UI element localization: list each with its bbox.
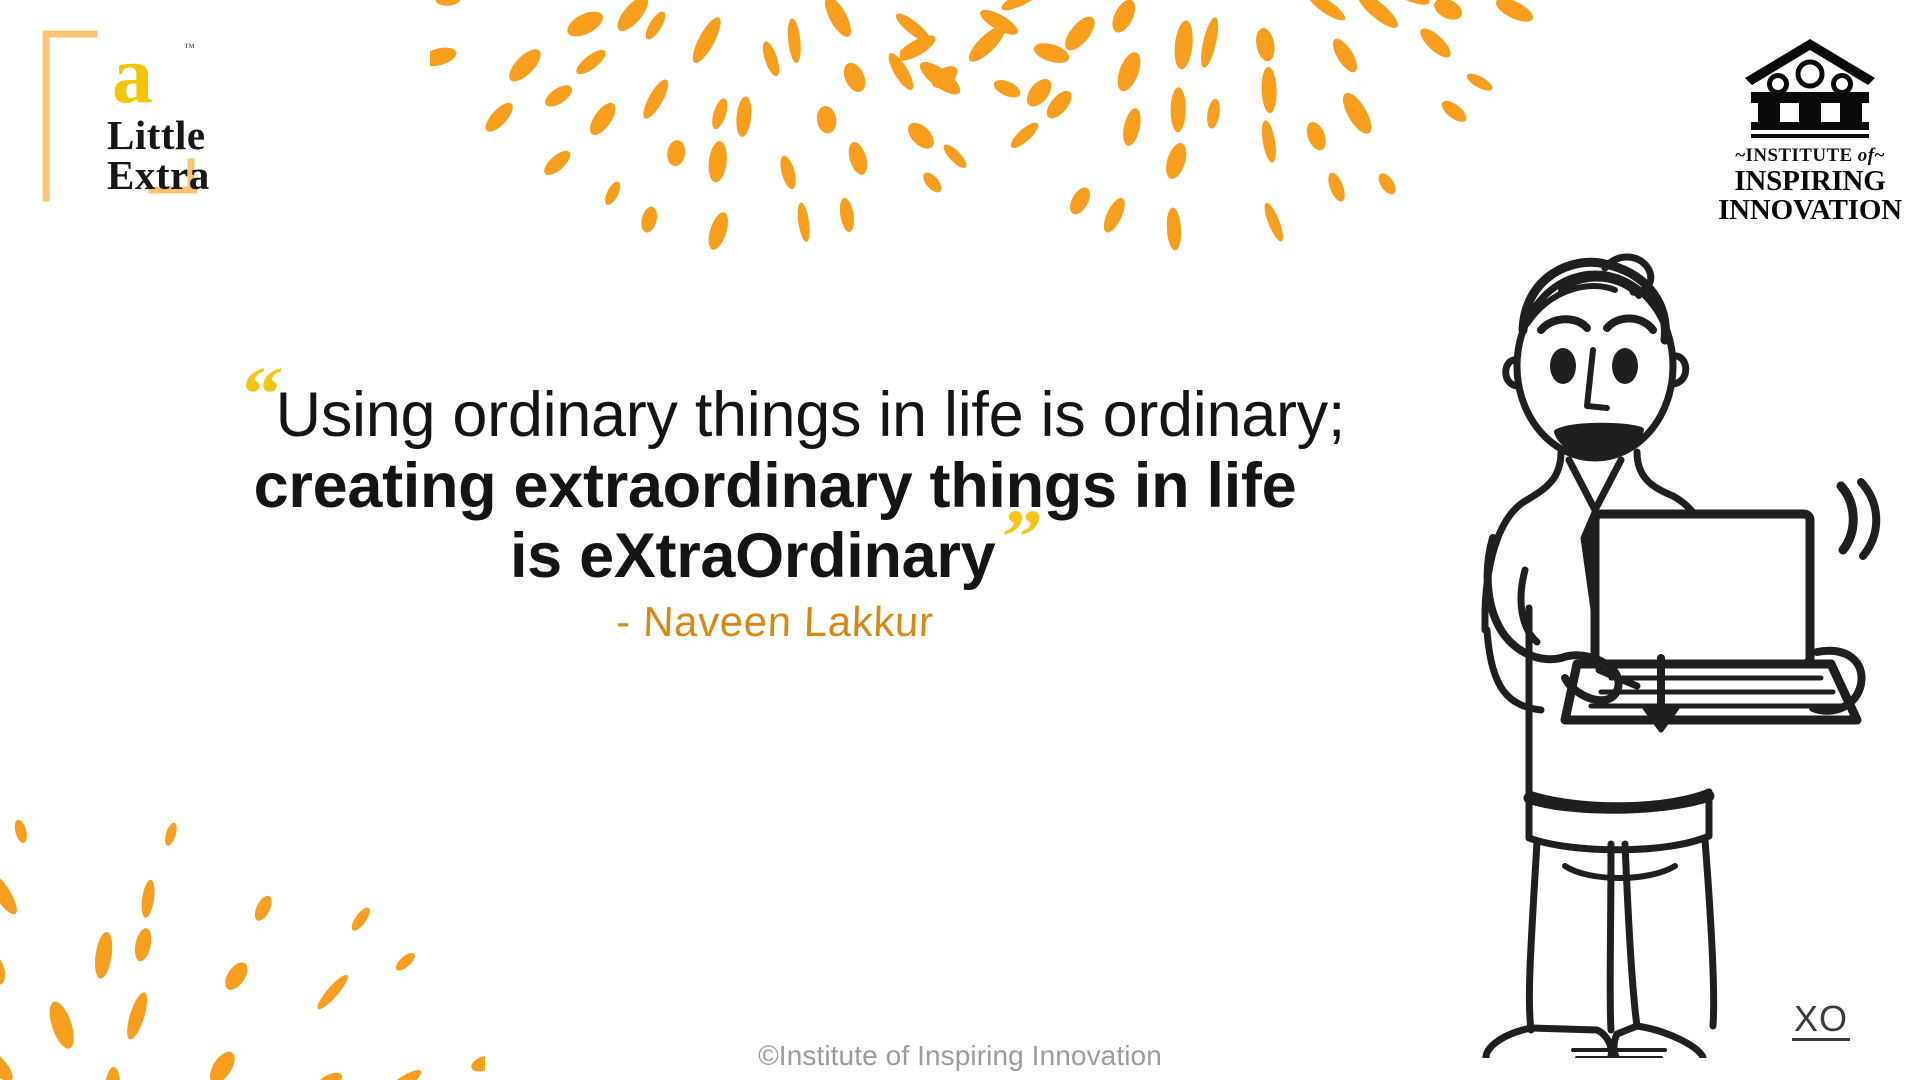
quote-line-1: “Using ordinary things in life is ordina… [120,380,1430,451]
brand-logo-trademark: ™ [184,42,195,54]
quote-line-3: is eXtraOrdinary” [120,521,1430,592]
burst-top-left-icon [430,0,1070,270]
institute-logo-text-institute: ~INSTITUTE [1735,145,1852,166]
footer-copyright: ©Institute of Inspiring Innovation [0,1040,1920,1072]
temple-pillars-icon [1735,34,1885,142]
illustration-signature-xo: XO [1792,1000,1850,1041]
burst-top-right-icon [900,0,1540,255]
institute-logo-line-inspiring: INSPIRING [1715,167,1905,196]
man-holding-laptop-doodle-icon [1465,238,1885,1058]
brand-logo-word-extra: Extra [107,156,210,196]
brand-logo-a-little-extra: a ™ Little Extra [34,26,244,216]
brand-logo-wordmark: Little Extra [107,116,210,196]
quote-line-3-text: is eXtraOrdinary [510,521,995,591]
brand-logo-word-little: Little [107,116,210,156]
quote-attribution: - Naveen Lakkur [119,598,1431,646]
slide-canvas: a ™ Little Extra ~INSTITUTE of~ INSPIRIN… [0,0,1920,1080]
burst-bottom-left-icon [0,760,485,1080]
brand-logo-letter-a-glyph: a [112,29,153,120]
brand-logo-letter-a: a [112,34,153,116]
quote-block: “Using ordinary things in life is ordina… [120,380,1430,646]
institute-logo-line-institute: ~INSTITUTE of~ [1715,145,1905,167]
institute-logo-line-innovation: INNOVATION [1715,196,1905,225]
institute-logo-text-tilde: ~ [1874,145,1884,166]
quote-line-2: creating extraordinary things in life [120,451,1430,522]
institute-logo: ~INSTITUTE of~ INSPIRING INNOVATION [1715,34,1905,214]
institute-logo-text-of: of [1858,145,1875,166]
quote-line-1-text: Using ordinary things in life is ordinar… [276,380,1345,450]
